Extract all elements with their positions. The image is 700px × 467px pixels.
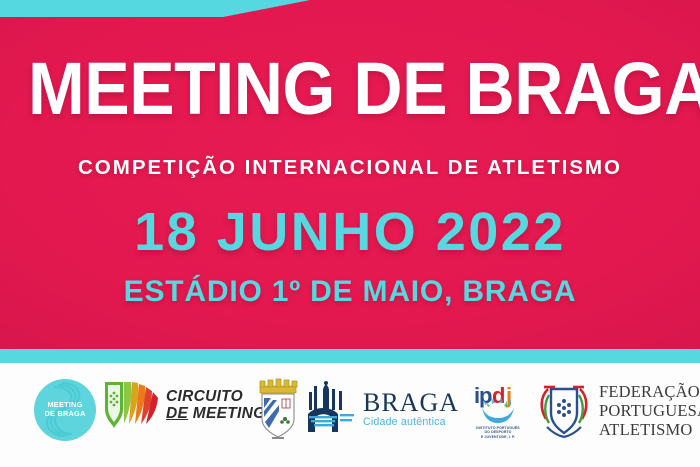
logo-braga-coat-of-arms xyxy=(255,375,301,441)
fpa-line2: PORTUGUESA xyxy=(599,401,700,420)
braga-name: BRAGA xyxy=(363,389,459,416)
event-venue: ESTÁDIO 1º DE MAIO, BRAGA xyxy=(0,275,700,309)
braga-skyline-icon xyxy=(305,380,357,438)
fpa-line1: FEDERAÇÃO xyxy=(599,382,700,401)
mdb-line2: DE BRAGA xyxy=(34,410,96,419)
meeting-de-braga-label: MEETING DE BRAGA xyxy=(34,401,96,418)
page-title: MEETING DE BRAGA xyxy=(28,50,672,128)
logo-circuito-de-meetings: CIRCUITO DE MEETINGS xyxy=(101,379,276,431)
poster-content: MEETING DE BRAGA COMPETIÇÃO INTERNACIONA… xyxy=(0,0,700,349)
ipdj-wordmark-icon: i p d j xyxy=(468,377,528,425)
braga-wordmark: BRAGA Cidade autêntica xyxy=(363,389,459,429)
meeting-de-braga-circle: MEETING DE BRAGA xyxy=(34,379,96,441)
fpa-shield-icon xyxy=(535,379,593,441)
fpa-wordmark: FEDERAÇÃO PORTUGUESA ATLETISMO xyxy=(599,382,700,439)
logo-federacao-portuguesa-atletismo: FEDERAÇÃO PORTUGUESA ATLETISMO xyxy=(535,379,700,441)
braga-tagline: Cidade autêntica xyxy=(363,416,459,429)
event-poster: MEETING DE BRAGA COMPETIÇÃO INTERNACIONA… xyxy=(0,0,700,467)
coat-of-arms-icon xyxy=(255,375,301,441)
ipdj-wrap: i p d j xyxy=(468,377,528,439)
svg-text:d: d xyxy=(492,383,505,408)
sponsor-logo-strip: MEETING DE BRAGA xyxy=(0,363,700,467)
logo-row: MEETING DE BRAGA xyxy=(0,363,700,467)
cyan-divider xyxy=(0,349,700,363)
ipdj-caption: INSTITUTO PORTUGUÊS DO DESPORTO E JUVENT… xyxy=(468,426,528,439)
fpa-line3: ATLETISMO xyxy=(599,420,700,439)
logo-ipdj: i p d j xyxy=(468,377,528,439)
poster-subtitle: COMPETIÇÃO INTERNACIONAL DE ATLETISMO xyxy=(0,156,700,180)
circuito-fan-icon xyxy=(101,379,163,431)
circuito-de: DE xyxy=(166,405,188,422)
event-date: 18 JUNHO 2022 xyxy=(0,203,700,261)
ipdj-caption-line3: E JUVENTUDE, I. P. xyxy=(468,435,528,439)
logo-braga-cidade-autentica: BRAGA Cidade autêntica xyxy=(305,380,459,438)
logo-meeting-de-braga: MEETING DE BRAGA xyxy=(34,379,96,441)
